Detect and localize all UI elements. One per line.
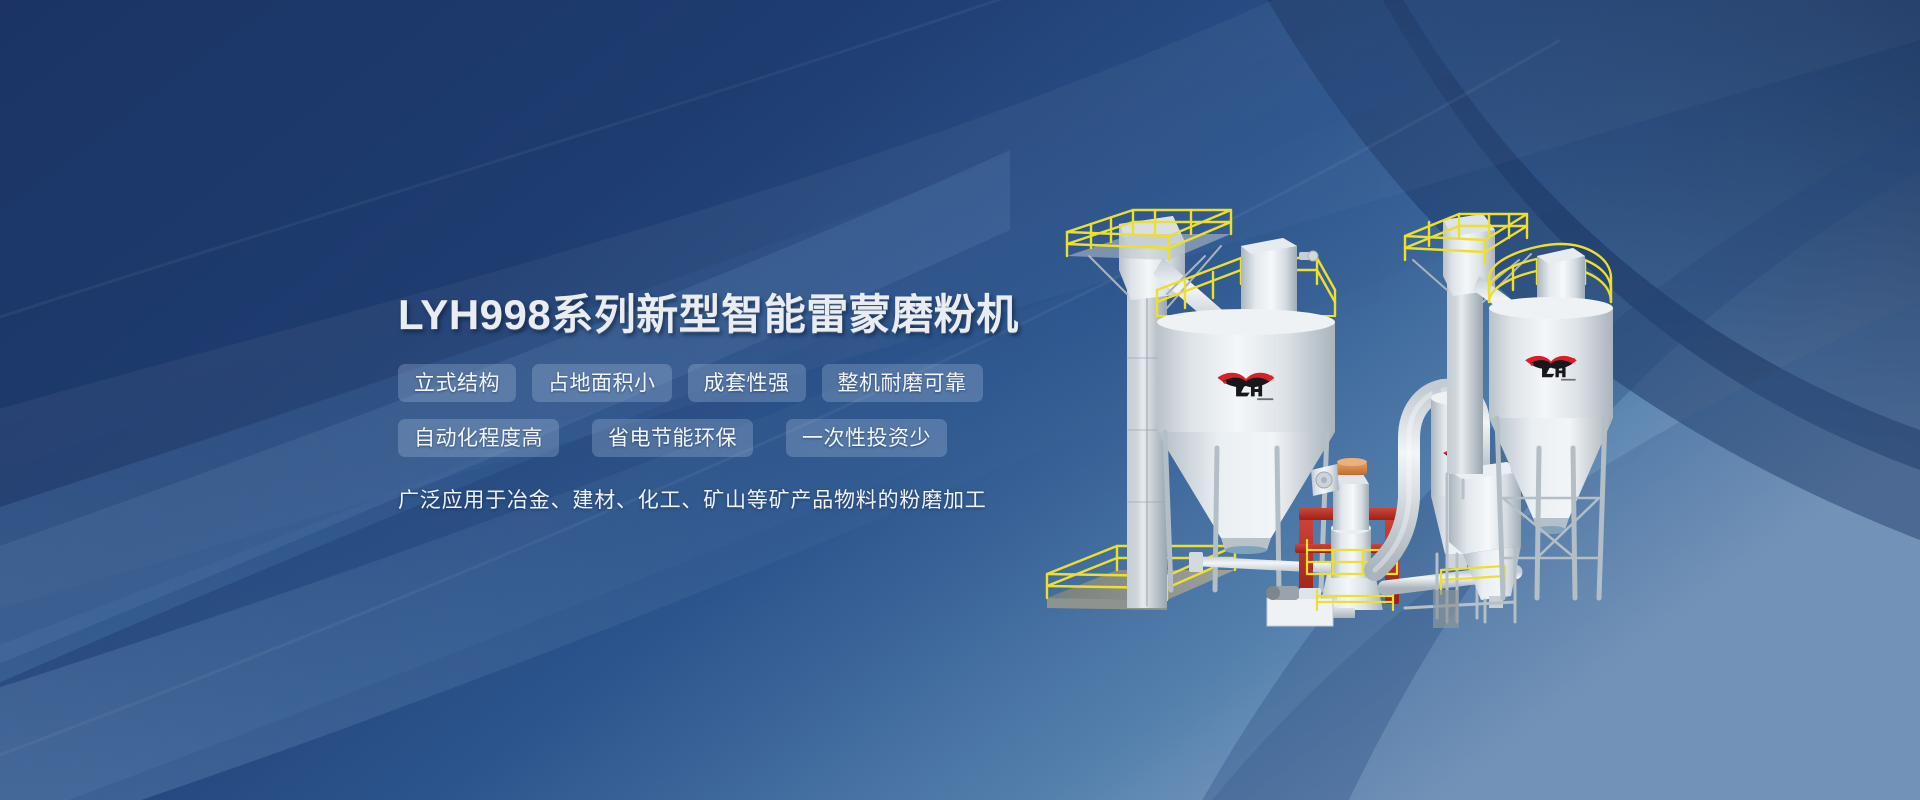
feature-tag-row-1: 立式结构 占地面积小 成套性强 整机耐磨可靠 xyxy=(398,364,1038,402)
feature-tag[interactable]: 整机耐磨可靠 xyxy=(822,364,983,402)
application-description: 广泛应用于冶金、建材、化工、矿山等矿产品物料的粉磨加工 xyxy=(398,484,1038,514)
feature-tag[interactable]: 成套性强 xyxy=(688,364,806,402)
feature-tag[interactable]: 省电节能环保 xyxy=(592,419,753,457)
hero-text-block: LYH998系列新型智能雷蒙磨粉机 立式结构 占地面积小 成套性强 整机耐磨可靠… xyxy=(398,292,1038,514)
feature-tag[interactable]: 一次性投资少 xyxy=(786,419,947,457)
feature-tag[interactable]: 立式结构 xyxy=(398,364,516,402)
raymond-mill-plant-illustration xyxy=(1045,198,1615,628)
product-hero-banner: LYH998系列新型智能雷蒙磨粉机 立式结构 占地面积小 成套性强 整机耐磨可靠… xyxy=(0,0,1920,800)
page-title: LYH998系列新型智能雷蒙磨粉机 xyxy=(398,292,1038,338)
feature-tag-row-2: 自动化程度高 省电节能环保 一次性投资少 xyxy=(398,419,1038,457)
feature-tag[interactable]: 占地面积小 xyxy=(532,364,672,402)
feature-tag[interactable]: 自动化程度高 xyxy=(398,419,559,457)
